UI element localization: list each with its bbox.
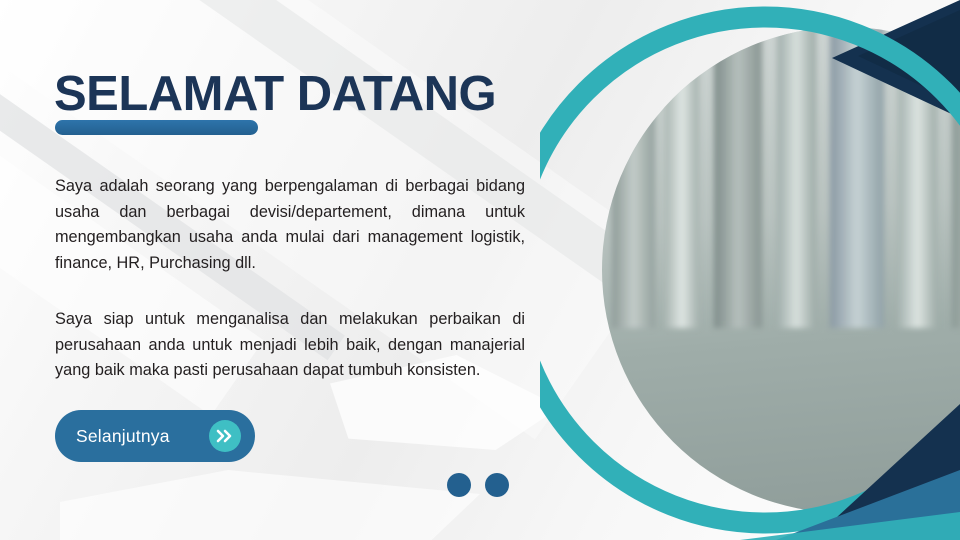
pagination-dot-2[interactable] [485, 473, 509, 497]
next-button-label: Selanjutnya [76, 426, 209, 447]
pagination-dot-1[interactable] [447, 473, 471, 497]
paragraph-intro: Saya adalah seorang yang berpengalaman d… [55, 174, 525, 276]
page-title: SELAMAT DATANG [54, 69, 496, 120]
next-button[interactable]: Selanjutnya [55, 410, 255, 462]
pagination-dots[interactable] [447, 473, 509, 497]
teal-ring [540, 17, 960, 523]
paragraph-offer: Saya siap untuk menganalisa dan melakuka… [55, 307, 525, 384]
double-chevron-right-icon [209, 420, 241, 452]
decorative-shapes [540, 0, 960, 540]
slide-canvas: SELAMAT DATANG Saya adalah seorang yang … [0, 0, 960, 540]
title-accent-bar [55, 120, 258, 135]
